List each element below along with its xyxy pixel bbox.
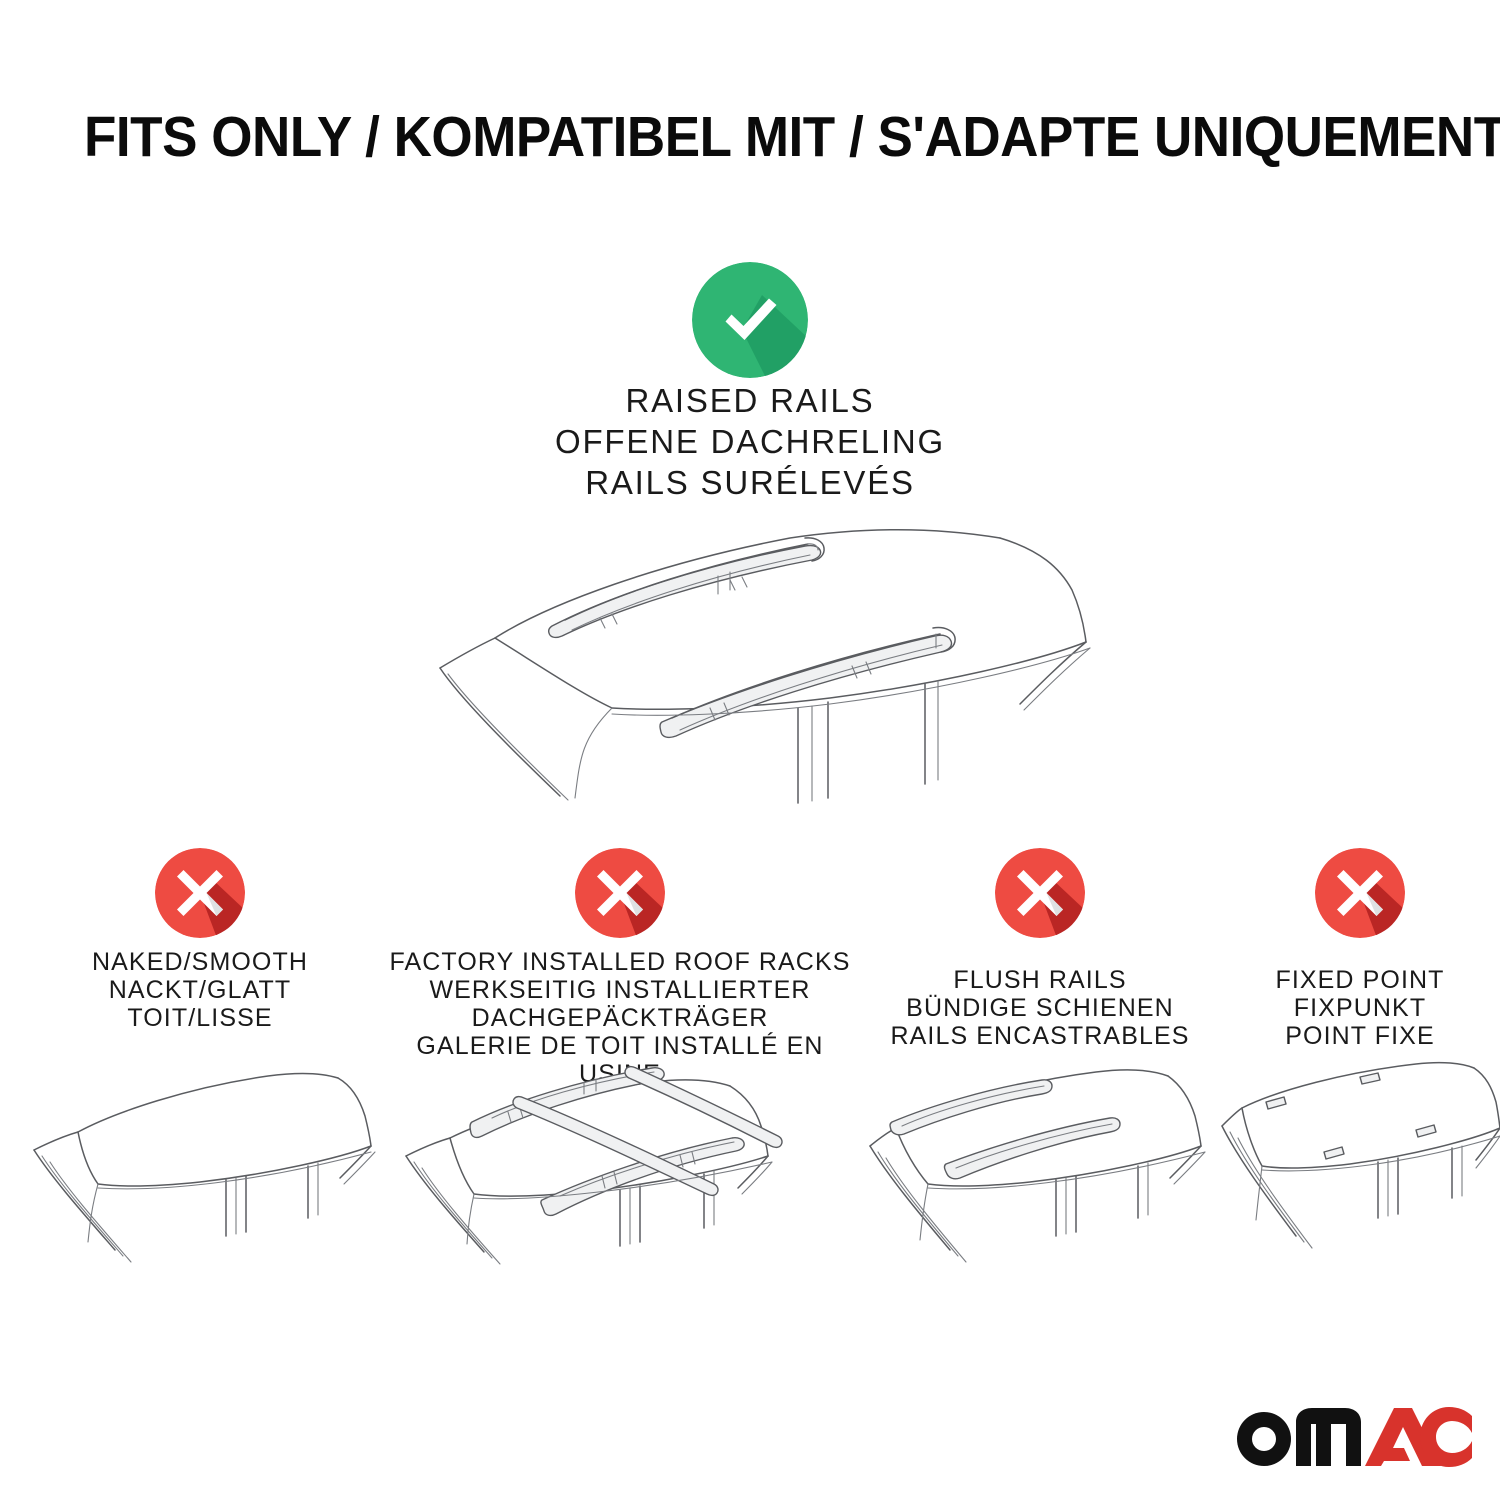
cross-circle-icon <box>995 848 1085 938</box>
caption-line-de-1: WERKSEITIG INSTALLIERTER <box>380 976 860 1004</box>
caption-line-de: FIXPUNKT <box>1220 994 1500 1022</box>
cross-circle-icon <box>155 848 245 938</box>
caption-line-de: NACKT/GLATT <box>20 976 380 1004</box>
cross-circle-icon <box>1315 848 1405 938</box>
omac-logo <box>1232 1404 1472 1468</box>
car-roof-fixed-point-illustration <box>1220 1060 1500 1275</box>
car-roof-naked-smooth-illustration <box>20 1060 380 1275</box>
compatible-line-de: OFFENE DACHRELING <box>400 421 1100 462</box>
compatible-line-en: RAISED RAILS <box>400 380 1100 421</box>
caption-line-fr: TOIT/LISSE <box>20 1004 380 1032</box>
caption-line-de-2: DACHGEPÄCKTRÄGER <box>380 1004 860 1032</box>
car-roof-raised-rails-illustration <box>400 508 1100 828</box>
caption-line-fr: RAILS ENCASTRABLES <box>860 1022 1220 1050</box>
caption-line-de: BÜNDIGE SCHIENEN <box>860 994 1220 1022</box>
page-title: FITS ONLY / KOMPATIBEL MIT / S'ADAPTE UN… <box>84 104 1330 170</box>
caption-line-fr: POINT FIXE <box>1220 1022 1500 1050</box>
check-circle-icon <box>692 262 808 378</box>
compatible-line-fr: RAILS SURÉLEVÉS <box>400 462 1100 503</box>
caption-line-en: NAKED/SMOOTH <box>20 948 380 976</box>
caption-line-en: FIXED POINT <box>1220 966 1500 994</box>
option-caption: FLUSH RAILS BÜNDIGE SCHIENEN RAILS ENCAS… <box>860 966 1220 1050</box>
caption-line-en: FLUSH RAILS <box>860 966 1220 994</box>
caption-line-en: FACTORY INSTALLED ROOF RACKS <box>380 948 860 976</box>
car-roof-factory-racks-illustration <box>380 1060 860 1275</box>
option-caption: NAKED/SMOOTH NACKT/GLATT TOIT/LISSE <box>20 948 380 1032</box>
compatible-caption: RAISED RAILS OFFENE DACHRELING RAILS SUR… <box>400 380 1100 503</box>
option-caption: FIXED POINT FIXPUNKT POINT FIXE <box>1220 966 1500 1050</box>
cross-circle-icon <box>575 848 665 938</box>
car-roof-flush-rails-illustration <box>860 1060 1220 1275</box>
